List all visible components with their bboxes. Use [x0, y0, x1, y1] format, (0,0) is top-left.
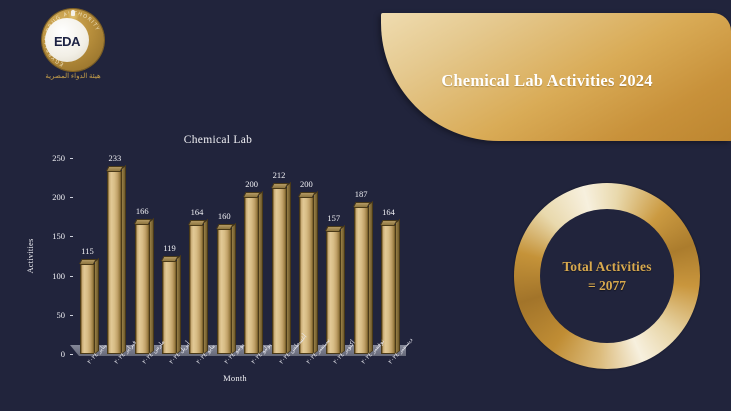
bar-top-cap — [298, 192, 316, 197]
bar-top-cap — [271, 183, 289, 188]
bar-value-label: 164 — [382, 207, 395, 217]
chart-plot-area: 050100150200250 Activities 1152331661191… — [70, 158, 400, 354]
bar-side-face — [122, 165, 126, 354]
donut-center-label: Total Activities = 2077 — [540, 209, 674, 343]
bar-column[interactable] — [299, 197, 314, 354]
bar-face — [80, 264, 95, 354]
bar-slot: 164 — [377, 158, 400, 354]
bar-face — [135, 224, 150, 354]
bar-side-face — [259, 191, 263, 354]
bar-side-face — [150, 218, 154, 354]
title-banner: Chemical Lab Activities 2024 — [381, 13, 731, 141]
bar-series: 115233166119164160200212200157187164 — [76, 158, 400, 354]
bar-value-label: 233 — [108, 153, 121, 163]
total-activities-donut: Total Activities = 2077 — [514, 183, 700, 369]
bar-top-cap — [134, 219, 152, 224]
bar-value-label: 212 — [273, 170, 286, 180]
y-axis-tick: 0 — [61, 349, 70, 359]
bar-value-label: 200 — [245, 179, 258, 189]
bar-face — [381, 225, 396, 354]
total-activities-title: Total Activities — [562, 259, 651, 275]
logo-arabic-caption: هيئة الدواء المصرية — [36, 72, 110, 81]
bar-slot: 212 — [268, 158, 291, 354]
bar-side-face — [396, 219, 400, 354]
bar-slot: 119 — [158, 158, 181, 354]
bar-value-label: 119 — [163, 243, 175, 253]
bar-value-label: 164 — [191, 207, 204, 217]
x-axis-label: Month — [70, 373, 400, 383]
bar-face — [299, 197, 314, 354]
bar-slot: 115 — [76, 158, 99, 354]
eda-logo: EGYPTIAN DRUG AUTHORITY EDA هيئة الدواء … — [36, 9, 110, 89]
y-axis-tick: 250 — [52, 153, 70, 163]
bar-side-face — [95, 258, 99, 354]
bar-face — [244, 197, 259, 354]
bar-face — [162, 261, 177, 354]
bar-column[interactable] — [135, 224, 150, 354]
y-axis-tick: 150 — [52, 231, 70, 241]
bar-face — [326, 231, 341, 354]
y-axis-tick: 200 — [52, 192, 70, 202]
total-activities-value: = 2077 — [588, 278, 626, 294]
bar-side-face — [314, 191, 318, 354]
bar-column[interactable] — [217, 229, 232, 354]
y-axis-tick: 50 — [57, 310, 71, 320]
bar-slot: 160 — [213, 158, 236, 354]
bar-value-label: 166 — [136, 206, 149, 216]
bar-column[interactable] — [107, 171, 122, 354]
slide-canvas: EGYPTIAN DRUG AUTHORITY EDA هيئة الدواء … — [0, 0, 731, 411]
bar-side-face — [287, 182, 291, 354]
y-axis: 050100150200250 — [70, 158, 71, 354]
bar-side-face — [204, 219, 208, 354]
bar-side-face — [341, 225, 345, 354]
bar-value-label: 157 — [327, 213, 340, 223]
bar-top-cap — [216, 224, 234, 229]
bar-column[interactable] — [80, 264, 95, 354]
bar-top-cap — [380, 220, 398, 225]
bar-slot: 166 — [131, 158, 154, 354]
bar-column[interactable] — [381, 225, 396, 354]
bar-slot: 200 — [240, 158, 263, 354]
y-axis-tick: 100 — [52, 271, 70, 281]
bar-top-cap — [353, 202, 371, 207]
bar-face — [107, 171, 122, 354]
bar-column[interactable] — [326, 231, 341, 354]
bar-column[interactable] — [244, 197, 259, 354]
bar-face — [354, 207, 369, 354]
chart-title: Chemical Lab — [18, 134, 418, 146]
bar-face — [189, 225, 204, 354]
bar-column[interactable] — [272, 188, 287, 354]
bar-face — [217, 229, 232, 354]
logo-inner-disc: EDA — [45, 18, 89, 62]
bar-column[interactable] — [162, 261, 177, 354]
bar-side-face — [369, 201, 373, 354]
bar-value-label: 160 — [218, 211, 231, 221]
bar-top-cap — [79, 259, 97, 264]
logo-monogram: EDA — [54, 34, 80, 49]
chemical-lab-bar-chart: Chemical Lab 050100150200250 Activities … — [18, 128, 418, 388]
bar-slot: 157 — [322, 158, 345, 354]
bar-side-face — [177, 255, 181, 354]
bar-slot: 233 — [103, 158, 126, 354]
bar-column[interactable] — [189, 225, 204, 354]
bar-value-label: 115 — [81, 246, 93, 256]
bar-side-face — [232, 222, 236, 354]
bar-column[interactable] — [354, 207, 369, 354]
y-axis-label: Activities — [25, 238, 35, 273]
bar-slot: 200 — [295, 158, 318, 354]
page-title: Chemical Lab Activities 2024 — [381, 71, 713, 91]
bar-slot: 187 — [350, 158, 373, 354]
bar-value-label: 200 — [300, 179, 313, 189]
eagle-head-icon — [71, 10, 75, 16]
bar-slot: 164 — [185, 158, 208, 354]
bar-value-label: 187 — [355, 189, 368, 199]
bar-face — [272, 188, 287, 354]
